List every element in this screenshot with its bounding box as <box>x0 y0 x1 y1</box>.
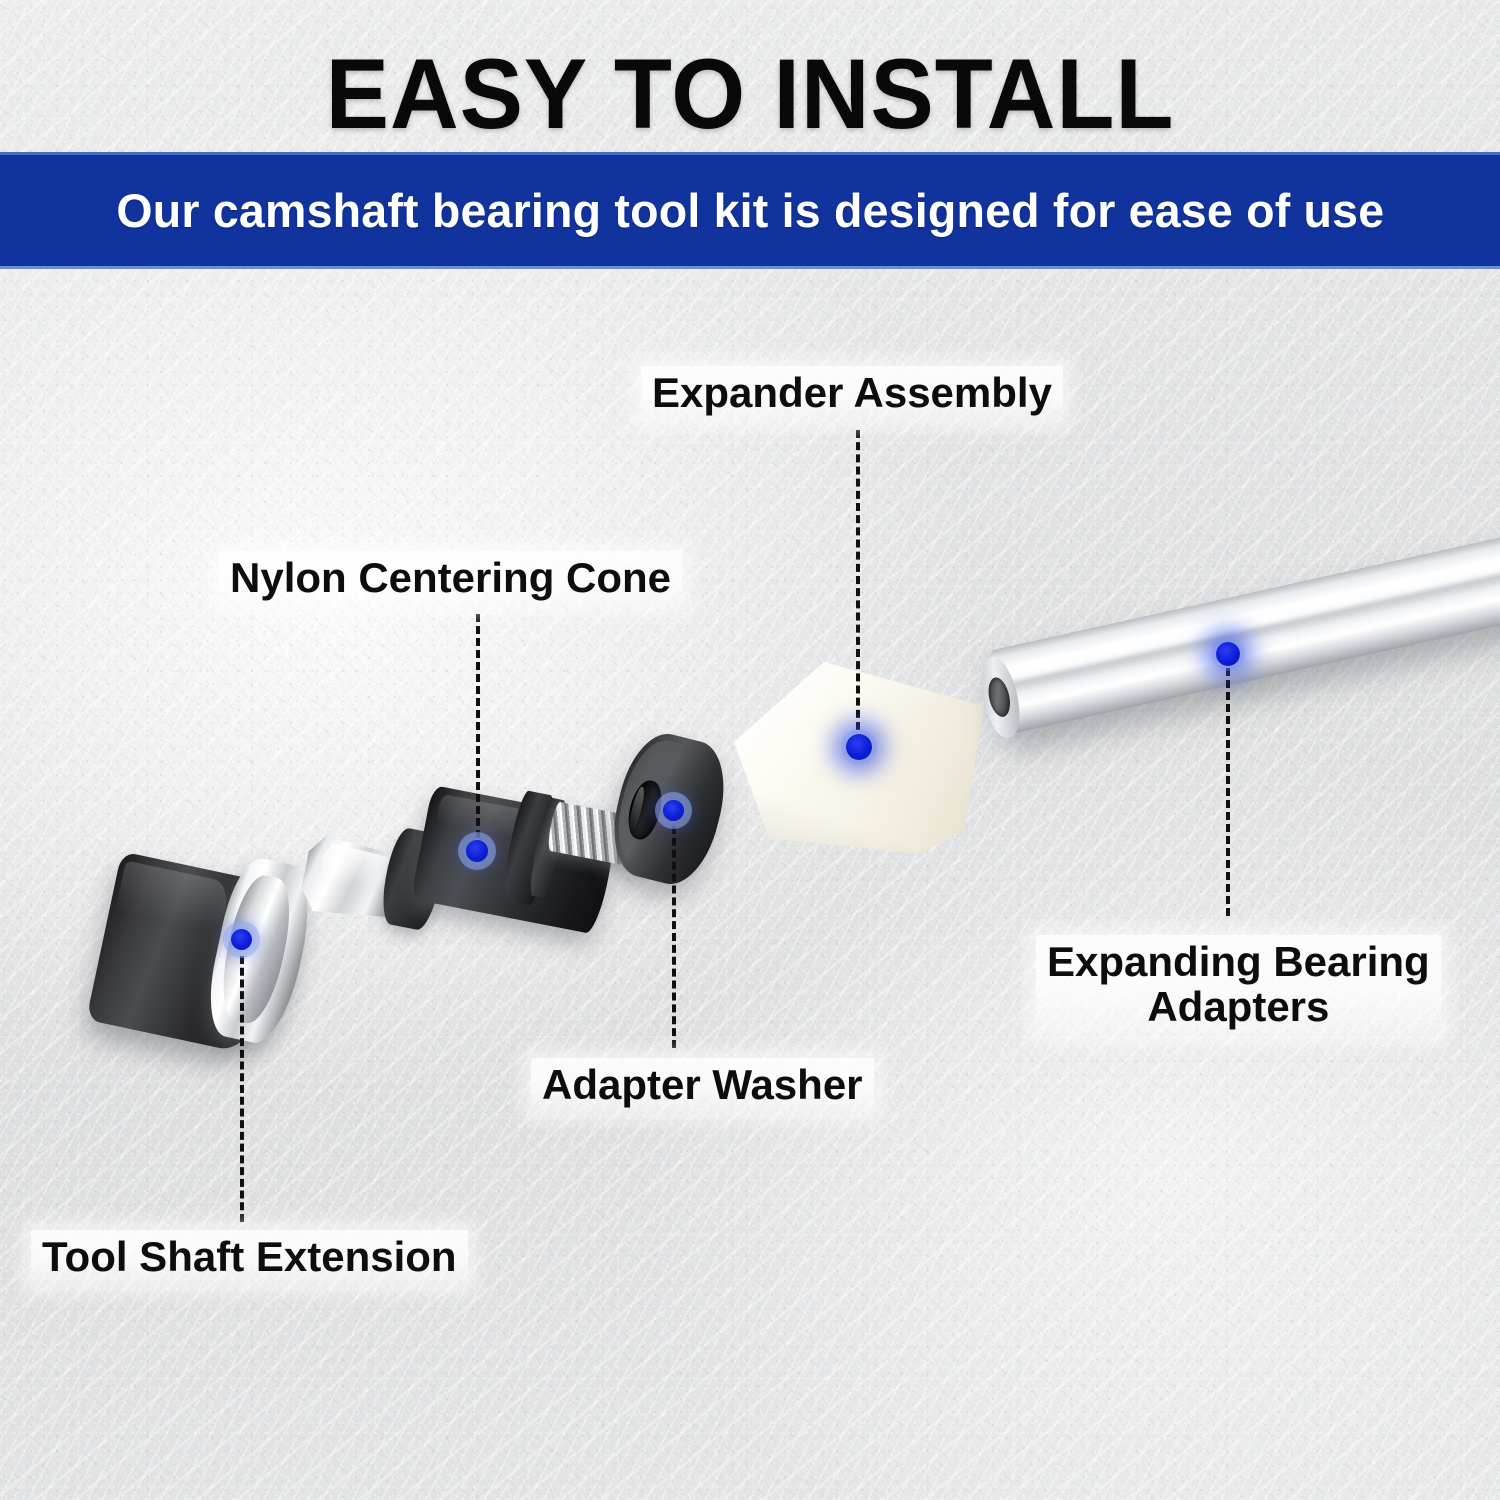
callout-label-adapter-washer: Adapter Washer <box>531 1058 874 1113</box>
marker-dot-tool-shaft-extension <box>231 929 252 950</box>
part-expanding-bearing-adapters <box>985 585 1500 815</box>
marker-dot-nylon-centering-cone <box>466 840 488 862</box>
banner-subtitle: Our camshaft bearing tool kit is designe… <box>116 183 1384 238</box>
leader-line-tool-shaft-extension <box>240 956 244 1222</box>
callout-label-nylon-centering-cone: Nylon Centering Cone <box>219 551 682 606</box>
header-title-area: EASY TO INSTALL <box>0 0 1500 152</box>
marker-dot-expanding-bearing-adapters <box>1216 642 1240 666</box>
callout-label-line-2: Adapters <box>1147 983 1329 1030</box>
callout-label-expander-assembly: Expander Assembly <box>641 366 1063 421</box>
leader-line-expanding-bearing-adapters <box>1226 668 1230 916</box>
leader-line-adapter-washer <box>672 826 676 1048</box>
header-banner: Our camshaft bearing tool kit is designe… <box>0 152 1500 269</box>
callout-label-expanding-bearing-adapters: Expanding BearingAdapters <box>1036 935 1441 1036</box>
tube-seam <box>984 531 1500 736</box>
part-expander-assembly <box>300 778 650 958</box>
leader-line-expander-assembly <box>856 430 860 730</box>
infographic-page: EASY TO INSTALL Our camshaft bearing too… <box>0 0 1500 1500</box>
callout-label-line-1: Expanding Bearing <box>1047 938 1430 985</box>
page-title: EASY TO INSTALL <box>30 44 1470 143</box>
callout-label-tool-shaft-extension: Tool Shaft Extension <box>31 1230 468 1285</box>
leader-line-nylon-centering-cone <box>476 614 480 838</box>
marker-dot-adapter-washer <box>663 800 684 821</box>
marker-dot-expander-assembly <box>846 734 872 760</box>
